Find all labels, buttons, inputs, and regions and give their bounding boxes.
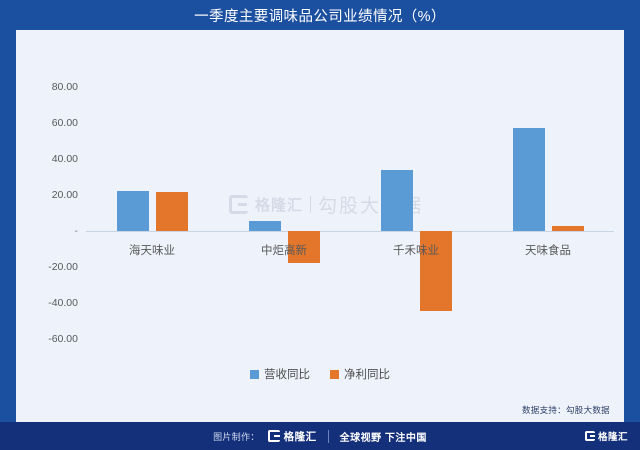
plot-area: 格隆汇 勾股大数据 80.0060.0040.0020.00--20.00-40… (16, 30, 624, 422)
bar-revenue[interactable] (513, 128, 545, 231)
footer-brand-logo: 格隆汇 (268, 429, 317, 444)
watermark-divider (310, 196, 311, 213)
y-axis-tick-label: -40.00 (16, 297, 78, 309)
zero-axis-line (86, 231, 614, 232)
chart-panel: 格隆汇 勾股大数据 80.0060.0040.0020.00--20.00-40… (16, 30, 624, 422)
y-axis-tick-label: 40.00 (16, 153, 78, 165)
legend-item[interactable]: 净利同比 (330, 366, 390, 382)
x-axis-category-label: 千禾味业 (393, 242, 439, 258)
title-bar: 一季度主要调味品公司业绩情况（%） (0, 0, 640, 30)
y-axis-tick-label: 80.00 (16, 81, 78, 93)
legend-swatch (330, 370, 339, 379)
chart-poster: 一季度主要调味品公司业绩情况（%） 格隆汇 勾股大数据 80.0060.0040… (0, 0, 640, 450)
x-axis-category-label: 海天味业 (129, 242, 175, 258)
footer-divider (328, 430, 329, 443)
footer-corner-brand: 格隆汇 (598, 429, 628, 443)
legend-label: 净利同比 (344, 366, 390, 382)
footer-slogan: 全球视野 下注中国 (340, 429, 427, 444)
y-axis-tick-label: -20.00 (16, 261, 78, 273)
x-axis-category-label: 天味食品 (525, 242, 571, 258)
y-axis-tick-label: -60.00 (16, 333, 78, 345)
y-axis-tick-label: - (16, 225, 78, 237)
legend-label: 营收同比 (264, 366, 310, 382)
x-axis-category-label: 中炬高新 (261, 242, 307, 258)
bar-profit[interactable] (552, 226, 584, 231)
gelonghui-logo-icon (268, 430, 280, 442)
legend-swatch (250, 370, 259, 379)
page-title: 一季度主要调味品公司业绩情况（%） (194, 5, 446, 26)
watermark-brand: 格隆汇 (255, 194, 303, 215)
footer-corner-logo: 格隆汇 (585, 429, 628, 443)
bar-revenue[interactable] (249, 221, 281, 231)
bar-revenue[interactable] (381, 170, 413, 231)
y-axis-tick-label: 20.00 (16, 189, 78, 201)
gelonghui-logo-icon (585, 431, 595, 441)
gelonghui-logo-icon (229, 195, 248, 214)
y-axis-tick-label: 60.00 (16, 117, 78, 129)
footer-made-by-label: 图片制作： (213, 430, 260, 443)
footer-brand-name: 格隆汇 (284, 429, 317, 444)
bar-profit[interactable] (156, 192, 188, 231)
bar-revenue[interactable] (117, 191, 149, 231)
source-note: 数据支持：勾股大数据 (522, 404, 610, 416)
footer-bar: 图片制作： 格隆汇 全球视野 下注中国 格隆汇 (0, 422, 640, 450)
chart-legend: 营收同比净利同比 (16, 366, 624, 382)
legend-item[interactable]: 营收同比 (250, 366, 310, 382)
